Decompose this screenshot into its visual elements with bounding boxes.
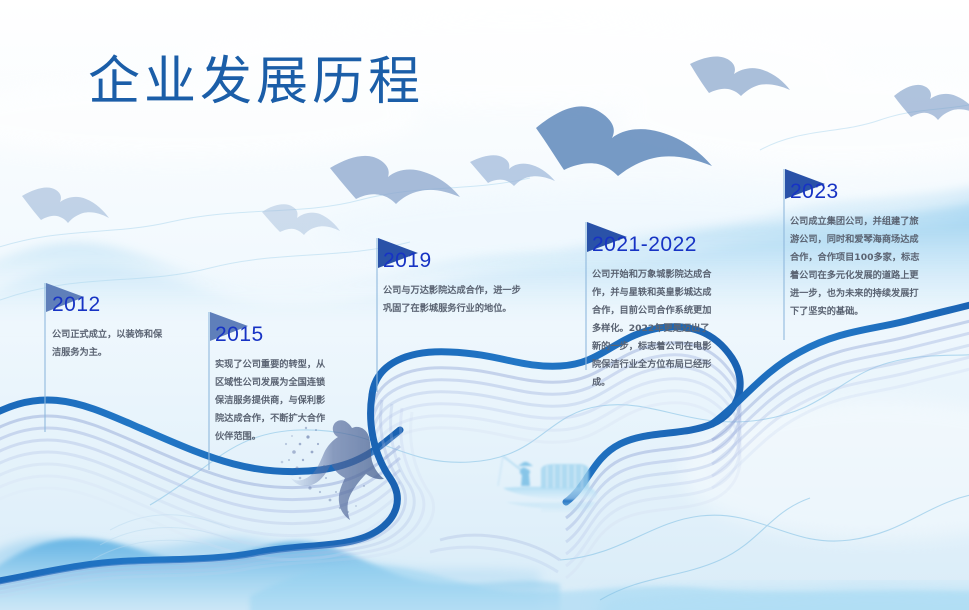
milestone-description: 公司与万达影院达成合作，进一步巩固了在影城服务行业的地位。 xyxy=(383,282,523,318)
milestone-year: 2019 xyxy=(383,249,523,273)
milestone-year: 2012 xyxy=(52,293,168,317)
milestone-year: 2023 xyxy=(790,180,920,204)
milestone-year: 2021-2022 xyxy=(592,233,714,257)
milestone-year: 2015 xyxy=(215,323,327,347)
milestone-2015[interactable]: 2015 实现了公司重要的转型，从区域性公司发展为全国连锁保洁服务提供商，与保利… xyxy=(215,323,327,446)
milestone-2021-2022[interactable]: 2021-2022 公司开始和万象城影院达成合作，并与星轶和英皇影城达成合作，目… xyxy=(592,233,714,392)
milestone-2012[interactable]: 2012 公司正式成立，以装饰和保洁服务为主。 xyxy=(52,293,168,362)
milestone-description: 实现了公司重要的转型，从区域性公司发展为全国连锁保洁服务提供商，与保利影院达成合… xyxy=(215,356,327,446)
milestone-description: 公司成立集团公司，并组建了旅游公司，同时和爱琴海商场达成合作，合作项目100多家… xyxy=(790,213,920,321)
infographic-canvas: 企业发展历程 2012 公司正式成立，以装饰和保洁服务为主。 2015 实现了公… xyxy=(0,0,969,610)
milestone-description: 公司开始和万象城影院达成合作，并与星轶和英皇影城达成合作，目前公司合作系统更加多… xyxy=(592,266,714,392)
page-title: 企业发展历程 xyxy=(88,56,424,108)
milestone-description: 公司正式成立，以装饰和保洁服务为主。 xyxy=(52,326,168,362)
milestone-2019[interactable]: 2019 公司与万达影院达成合作，进一步巩固了在影城服务行业的地位。 xyxy=(383,249,523,318)
milestone-2023[interactable]: 2023 公司成立集团公司，并组建了旅游公司，同时和爱琴海商场达成合作，合作项目… xyxy=(790,180,920,321)
